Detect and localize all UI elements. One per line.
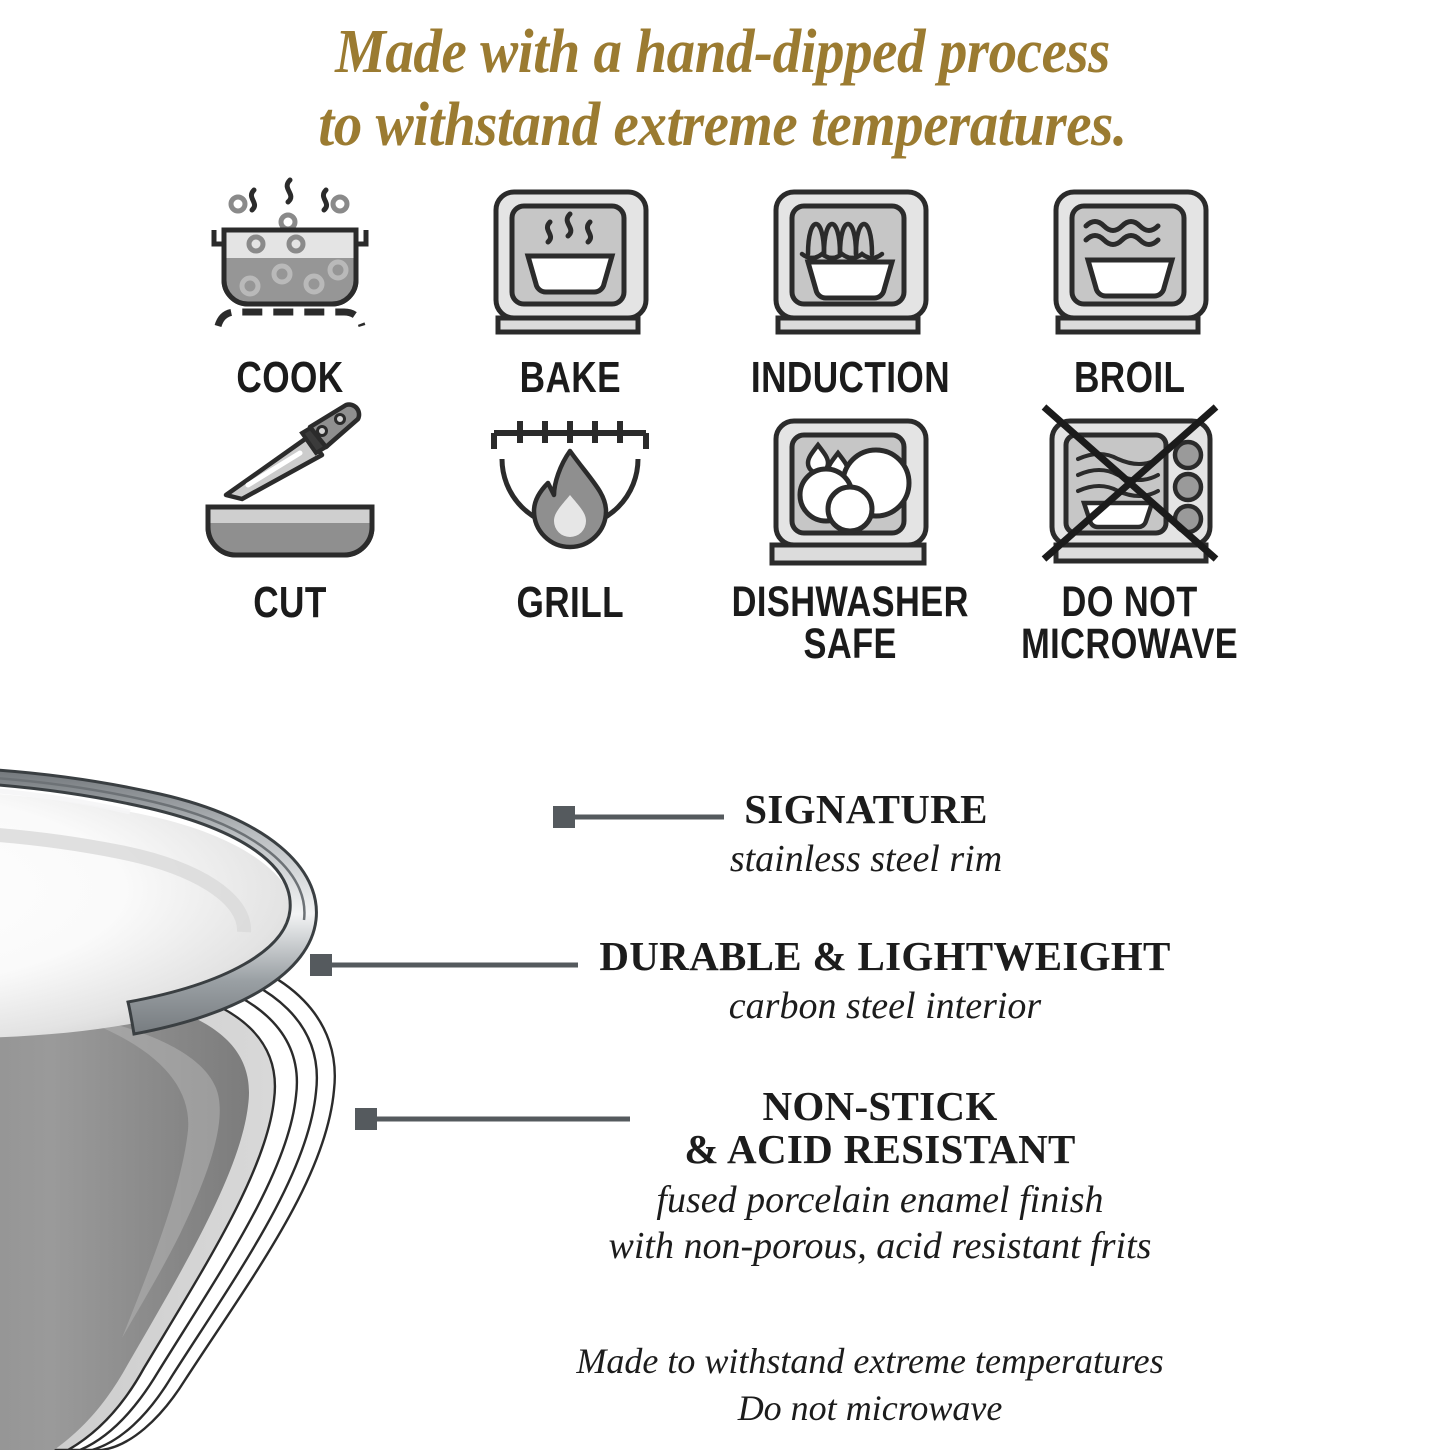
- callout-signature-title: SIGNATURE: [586, 788, 1146, 831]
- footnote-line-1: Made to withstand extreme temperatures: [576, 1341, 1163, 1381]
- footnote-line-2: Do not microwave: [738, 1388, 1003, 1428]
- callout-signature-subtitle: stainless steel rim: [586, 836, 1146, 882]
- callout-nonstick-title: NON-STICK & ACID RESISTANT: [530, 1085, 1230, 1172]
- footnote: Made to withstand extreme temperatures D…: [400, 1338, 1340, 1432]
- callout-nonstick-title-line-2: & ACID RESISTANT: [684, 1126, 1075, 1172]
- leader-marker-nonstick: [355, 1108, 377, 1130]
- callout-durable-subtitle: carbon steel interior: [560, 983, 1210, 1029]
- leader-marker-signature: [553, 806, 575, 828]
- infographic-canvas: Made with a hand-dipped process to withs…: [0, 0, 1445, 1445]
- callout-durable: DURABLE & LIGHTWEIGHT carbon steel inter…: [560, 935, 1210, 1030]
- leader-marker-durable: [310, 954, 332, 976]
- callout-durable-title: DURABLE & LIGHTWEIGHT: [560, 935, 1210, 978]
- callout-nonstick-subtitle-line-1: fused porcelain enamel finish: [656, 1179, 1103, 1221]
- callout-nonstick-title-line-1: NON-STICK: [762, 1083, 997, 1129]
- callout-nonstick-subtitle-line-2: with non-porous, acid resistant frits: [609, 1225, 1152, 1267]
- callout-nonstick: NON-STICK & ACID RESISTANT fused porcela…: [530, 1085, 1230, 1270]
- callout-nonstick-subtitle: fused porcelain enamel finish with non-p…: [530, 1177, 1230, 1270]
- callout-signature: SIGNATURE stainless steel rim: [586, 788, 1146, 883]
